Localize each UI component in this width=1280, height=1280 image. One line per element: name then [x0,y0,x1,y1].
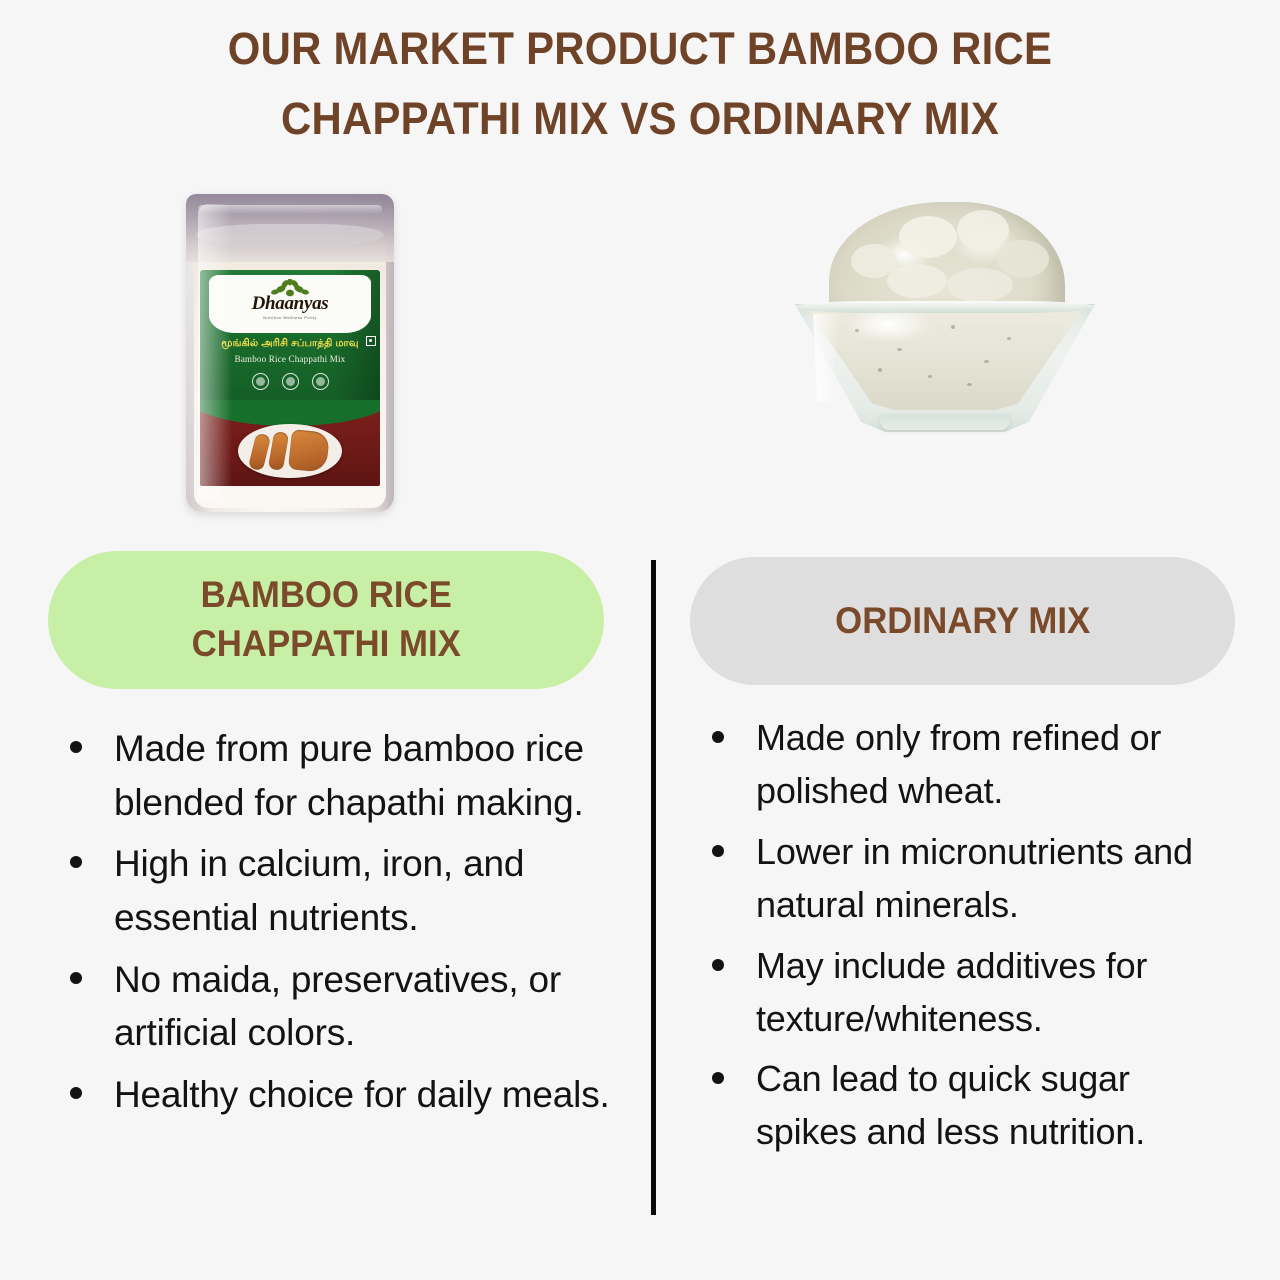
ordinary-flour-bowl-image [795,202,1095,434]
pouch-food-photo-band [200,400,380,486]
list-item: No maida, preservatives, or artificial c… [56,953,616,1060]
pouch-body: Dhaanyas Nutrition Wellness Purity மூங்க… [186,194,394,512]
product-image-row: Dhaanyas Nutrition Wellness Purity மூங்க… [0,180,1280,540]
bamboo-rice-pouch-image: Dhaanyas Nutrition Wellness Purity மூங்க… [186,194,394,512]
certification-icon-group [200,373,380,390]
ordinary-bullet-list: Made only from refined or polished wheat… [700,712,1240,1159]
product-name-english: Bamboo Rice Chappathi Mix [200,355,380,364]
product-name-tamil: மூங்கில் அரிசி சப்பாத்தி மாவு [200,339,380,349]
ordinary-drawbacks-column: Made only from refined or polished wheat… [700,712,1240,1167]
flour-lump [997,240,1049,278]
infographic-page: OUR MARKET PRODUCT BAMBOO RICE CHAPPATHI… [0,0,1280,1280]
title-line-2: CHAPPATHI MIX VS ORDINARY MIX [45,84,1235,154]
ordinary-heading-line-1: ORDINARY MIX [835,599,1090,643]
list-item: May include additives for texture/whiten… [700,940,1240,1046]
title-line-1: OUR MARKET PRODUCT BAMBOO RICE [228,23,1052,74]
bowl-base [879,414,1011,430]
list-item: Healthy choice for daily meals. [56,1068,616,1122]
chapathi-roll [268,431,289,471]
brand-name: Dhaanyas [209,294,371,313]
list-item: Made from pure bamboo rice blended for c… [56,722,616,829]
brand-badge: Dhaanyas Nutrition Wellness Purity [209,275,371,333]
list-item: Made only from refined or polished wheat… [700,712,1240,818]
flour-lump [899,216,957,258]
bamboo-heading-line-2: CHAPPATHI MIX [191,620,460,669]
column-divider [651,560,656,1215]
chapathi-piece [288,429,330,473]
list-item: Can lead to quick sugar spikes and less … [700,1053,1240,1159]
vegetarian-mark-icon [366,336,376,346]
bamboo-heading-line-1: BAMBOO RICE [191,571,460,620]
chapathi-plate [238,424,342,478]
quality-icon [312,373,329,390]
chapathi-roll [248,433,271,472]
brand-tagline: Nutrition Wellness Purity [209,315,371,320]
flour-lump [887,264,947,298]
pouch-notch [196,224,384,246]
ordinary-column-heading: ORDINARY MIX [690,557,1235,685]
flour-lump [957,210,1009,250]
bowl-rim [795,301,1095,313]
organic-icon [252,373,269,390]
bamboo-bullet-list: Made from pure bamboo rice blended for c… [56,722,616,1121]
page-title: OUR MARKET PRODUCT BAMBOO RICE CHAPPATHI… [45,14,1235,154]
bamboo-benefits-column: Made from pure bamboo rice blended for c… [56,722,616,1129]
flour-lump [947,268,1013,302]
list-item: High in calcium, iron, and essential nut… [56,837,616,944]
bowl-highlight [813,314,839,402]
list-item: Lower in micronutrients and natural mine… [700,826,1240,932]
natural-icon [282,373,299,390]
pouch-green-label: Dhaanyas Nutrition Wellness Purity மூங்க… [200,270,380,410]
bamboo-column-heading: BAMBOO RICE CHAPPATHI MIX [48,551,604,689]
